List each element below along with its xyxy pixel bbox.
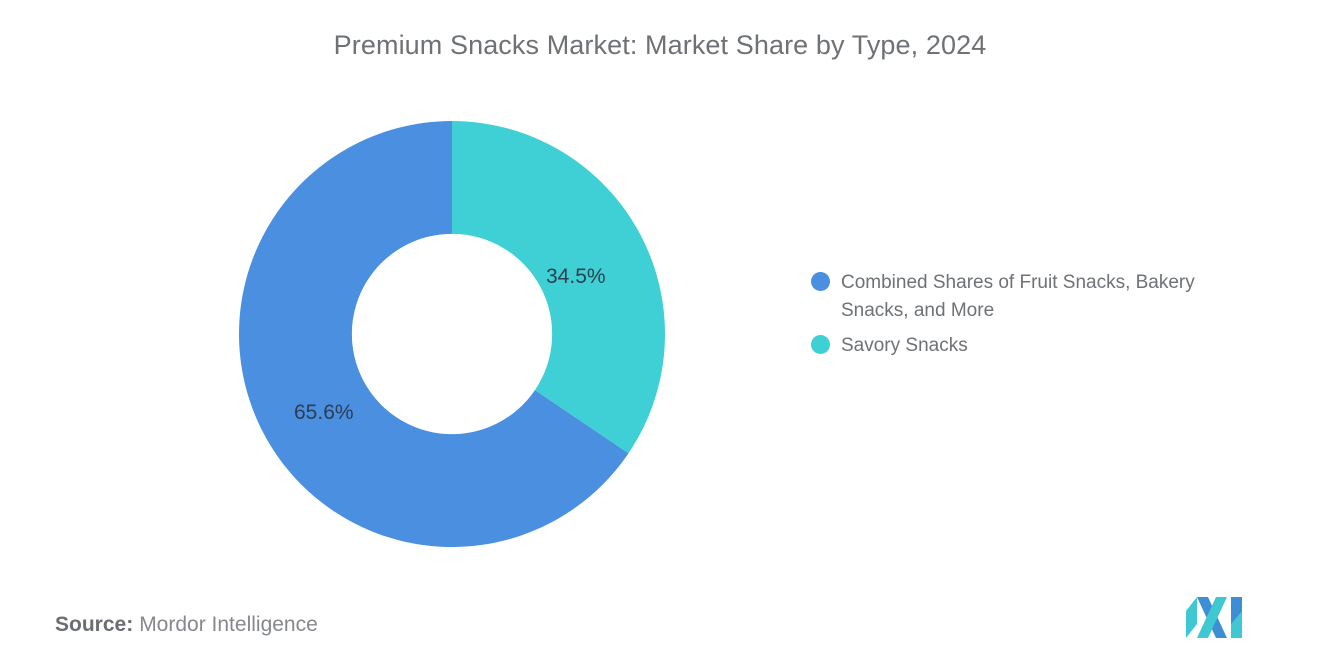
logo-svg [1186,597,1258,639]
legend-label-combined-shares: Combined Shares of Fruit Snacks, Bakery … [841,269,1259,325]
legend-item-savory-snacks[interactable]: Savory Snacks [811,332,1281,360]
donut-chart: 34.5% 65.6% [239,121,665,547]
slice-value-label-savory-snacks: 34.5% [546,265,606,289]
mordor-intelligence-logo-icon [1186,597,1258,639]
source-value: Mordor Intelligence [139,613,318,636]
source-line: Source:Mordor Intelligence [55,613,318,637]
chart-canvas: Premium Snacks Market: Market Share by T… [0,0,1320,665]
legend-item-combined-shares[interactable]: Combined Shares of Fruit Snacks, Bakery … [811,269,1281,325]
donut-svg [239,121,665,547]
legend-label-savory-snacks: Savory Snacks [841,332,968,360]
source-label: Source: [55,613,133,636]
legend-swatch-icon-combined-shares [811,272,830,291]
chart-title: Premium Snacks Market: Market Share by T… [0,30,1320,61]
donut-hole [352,234,552,434]
legend-swatch-icon-savory-snacks [811,335,830,354]
chart-legend: Combined Shares of Fruit Snacks, Bakery … [811,269,1281,367]
slice-value-label-combined-shares: 65.6% [294,401,354,425]
